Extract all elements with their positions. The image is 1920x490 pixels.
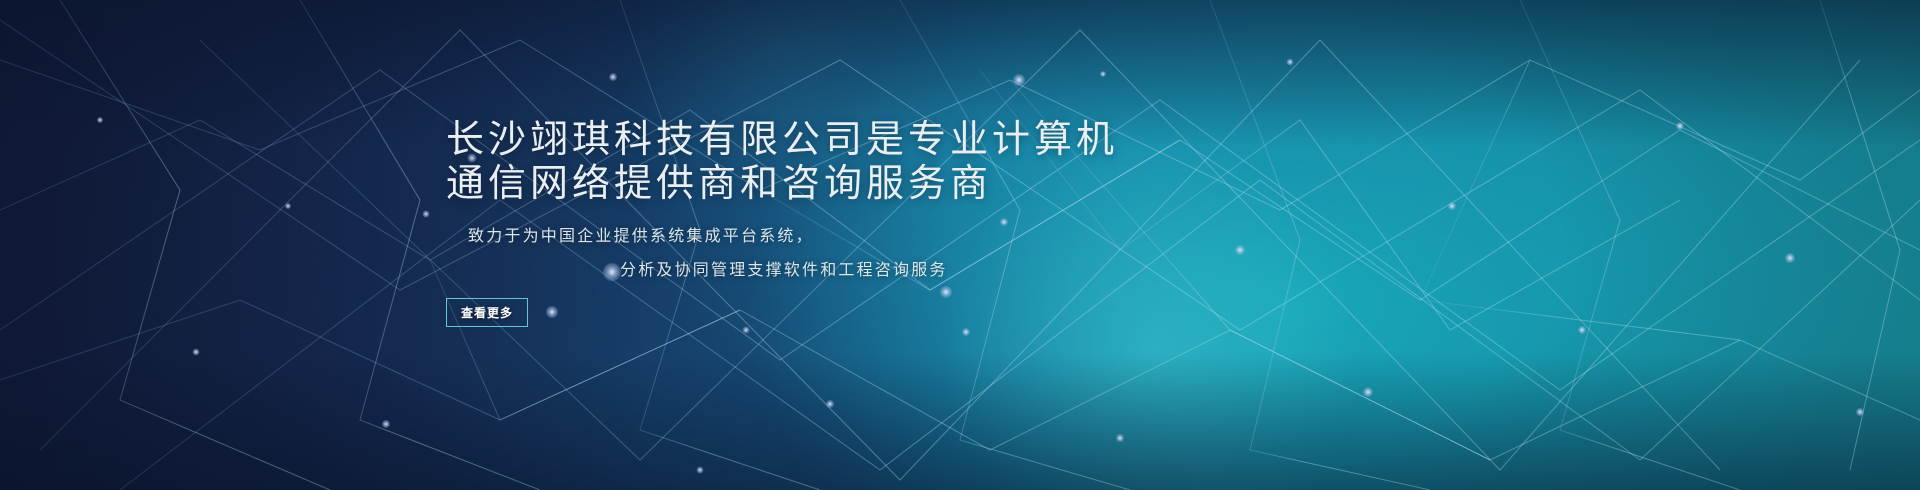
hero-banner: 长沙翊琪科技有限公司是专业计算机 通信网络提供商和咨询服务商 致力于为中国企业提… <box>0 0 1920 490</box>
subtitle-line-1: 致力于为中国企业提供系统集成平台系统， <box>468 220 1546 254</box>
banner-content: 长沙翊琪科技有限公司是专业计算机 通信网络提供商和咨询服务商 致力于为中国企业提… <box>446 118 1546 327</box>
subtitle-line-2: 分析及协同管理支撑软件和工程咨询服务 <box>620 254 1546 288</box>
banner-headline: 长沙翊琪科技有限公司是专业计算机 通信网络提供商和咨询服务商 <box>446 118 1546 206</box>
headline-line-2: 通信网络提供商和咨询服务商 <box>446 162 1546 206</box>
view-more-button[interactable]: 查看更多 <box>446 298 528 327</box>
banner-cta-row: 查看更多 <box>446 298 1546 327</box>
headline-line-1: 长沙翊琪科技有限公司是专业计算机 <box>446 118 1546 162</box>
banner-subtitle: 致力于为中国企业提供系统集成平台系统， 分析及协同管理支撑软件和工程咨询服务 <box>468 220 1546 288</box>
